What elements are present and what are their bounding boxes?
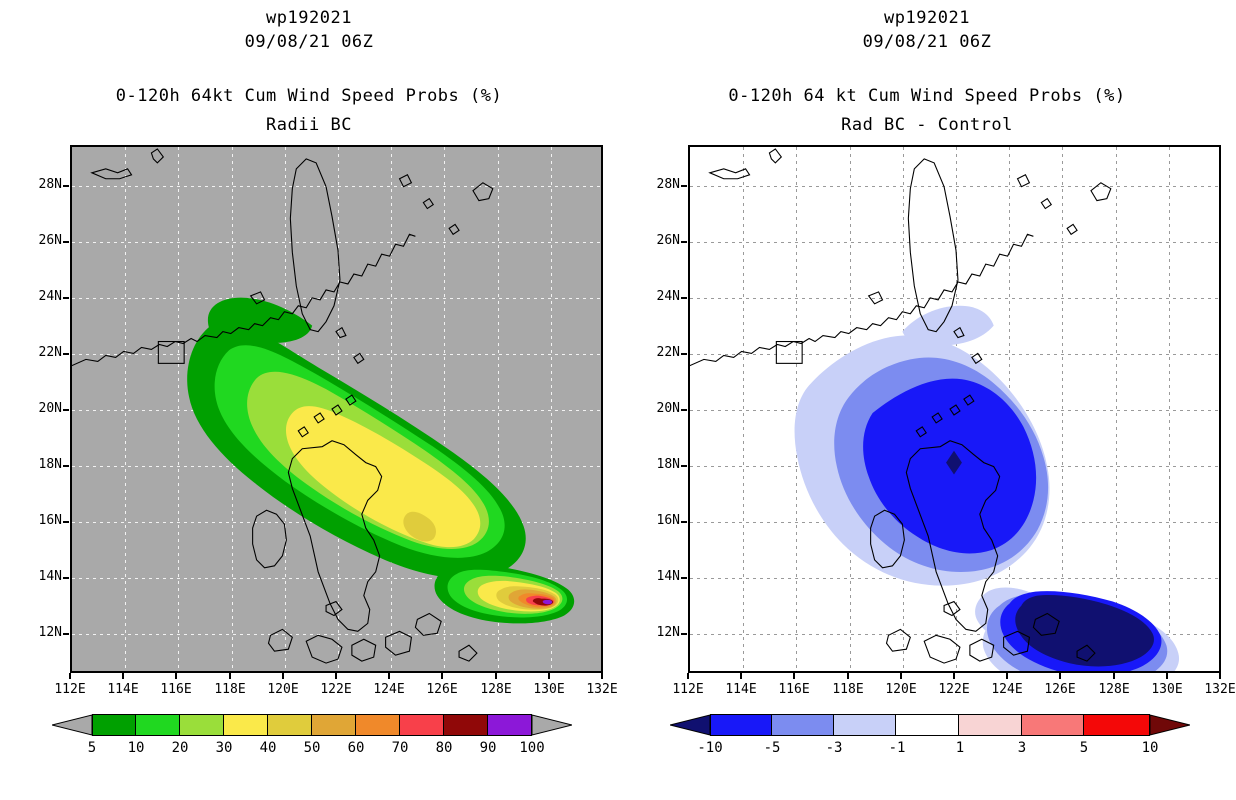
coastline-overlay-left [72, 147, 601, 671]
colorbar-label-10: 10 [113, 740, 159, 756]
x-tick-112e: 112E [47, 682, 93, 697]
y-tick-24n: 24N [20, 289, 62, 304]
colorbar-label-20: 20 [157, 740, 203, 756]
colorbar-label-40: 40 [245, 740, 291, 756]
colorbar-seg-neg1 [896, 714, 959, 736]
y-tick-24n-right: 24N [638, 289, 680, 304]
colorbar-high-cap-right [1150, 714, 1190, 736]
coastline-overlay-right [690, 147, 1219, 671]
datetime-left: 09/08/21 06Z [0, 32, 618, 52]
y-tick-22n: 22N [20, 345, 62, 360]
x-tick-126e-right: 126E [1037, 682, 1083, 697]
map-plot-left[interactable] [70, 145, 603, 673]
colorbar-seg-40 [268, 714, 312, 736]
x-tick-120e-right: 120E [878, 682, 924, 697]
x-tick-114e: 114E [100, 682, 146, 697]
chart-subtitle-right: Rad BC - Control [618, 115, 1236, 135]
x-tick-126e: 126E [419, 682, 465, 697]
colorbar-label-5: 5 [69, 740, 115, 756]
colorbar-label-neg5: -5 [749, 740, 795, 756]
x-tick-116e-right: 116E [771, 682, 817, 697]
colorbar-probability[interactable]: 5 10 20 30 40 50 60 70 80 90 100 [0, 714, 618, 774]
colorbar-label-neg10: -10 [687, 740, 733, 756]
x-tick-118e-right: 118E [825, 682, 871, 697]
colorbar-seg-neg3 [834, 714, 896, 736]
y-tick-26n-right: 26N [638, 233, 680, 248]
colorbar-seg-50 [312, 714, 356, 736]
storm-id-left: wp192021 [0, 8, 618, 28]
colorbar-difference[interactable]: -10 -5 -3 -1 1 3 5 10 [618, 714, 1236, 774]
colorbar-seg-5 [92, 714, 136, 736]
colorbar-seg-70 [400, 714, 444, 736]
colorbar-label-pos5: 5 [1061, 740, 1107, 756]
colorbar-segments-left [92, 714, 532, 736]
datetime-right: 09/08/21 06Z [618, 32, 1236, 52]
colorbar-seg-neg10 [710, 714, 772, 736]
x-tick-130e-right: 130E [1144, 682, 1190, 697]
colorbar-low-cap-left [52, 714, 92, 736]
colorbar-label-60: 60 [333, 740, 379, 756]
colorbar-label-neg1: -1 [874, 740, 920, 756]
y-tick-14n: 14N [20, 569, 62, 584]
chart-subtitle-left: Radii BC [0, 115, 618, 135]
x-tick-130e: 130E [526, 682, 572, 697]
colorbar-label-50: 50 [289, 740, 335, 756]
x-tick-122e-right: 122E [931, 682, 977, 697]
colorbar-label-80: 80 [421, 740, 467, 756]
colorbar-low-cap-right [670, 714, 710, 736]
x-tick-118e: 118E [207, 682, 253, 697]
y-tick-16n-right: 16N [638, 513, 680, 528]
y-tick-26n: 26N [20, 233, 62, 248]
x-tick-128e-right: 128E [1091, 682, 1137, 697]
y-tick-12n: 12N [20, 625, 62, 640]
panel-radii-bc: wp192021 09/08/21 06Z 0-120h 64kt Cum Wi… [0, 0, 618, 800]
colorbar-seg-30 [224, 714, 268, 736]
colorbar-seg-80 [444, 714, 488, 736]
storm-id-right: wp192021 [618, 8, 1236, 28]
colorbar-label-pos3: 3 [999, 740, 1045, 756]
colorbar-label-100: 100 [509, 740, 555, 756]
colorbar-label-pos10: 10 [1127, 740, 1173, 756]
y-tick-18n-right: 18N [638, 457, 680, 472]
x-tick-116e: 116E [153, 682, 199, 697]
x-tick-114e-right: 114E [718, 682, 764, 697]
chart-title-left: 0-120h 64kt Cum Wind Speed Probs (%) [0, 86, 618, 106]
colorbar-high-cap-left [532, 714, 572, 736]
x-tick-112e-right: 112E [665, 682, 711, 697]
map-plot-right[interactable] [688, 145, 1221, 673]
colorbar-seg-20 [180, 714, 224, 736]
colorbar-label-70: 70 [377, 740, 423, 756]
colorbar-label-pos1: 1 [937, 740, 983, 756]
x-tick-128e: 128E [473, 682, 519, 697]
colorbar-seg-pos5 [1084, 714, 1150, 736]
colorbar-seg-pos1 [959, 714, 1022, 736]
x-tick-120e: 120E [260, 682, 306, 697]
y-tick-16n: 16N [20, 513, 62, 528]
x-tick-124e-right: 124E [984, 682, 1030, 697]
colorbar-label-neg3: -3 [811, 740, 857, 756]
chart-title-right: 0-120h 64 kt Cum Wind Speed Probs (%) [618, 86, 1236, 106]
colorbar-seg-90 [488, 714, 532, 736]
y-tick-14n-right: 14N [638, 569, 680, 584]
y-tick-12n-right: 12N [638, 625, 680, 640]
y-tick-22n-right: 22N [638, 345, 680, 360]
colorbar-seg-pos3 [1022, 714, 1084, 736]
panel-rad-bc-minus-control: wp192021 09/08/21 06Z 0-120h 64 kt Cum W… [618, 0, 1236, 800]
colorbar-label-30: 30 [201, 740, 247, 756]
x-tick-122e: 122E [313, 682, 359, 697]
y-tick-20n-right: 20N [638, 401, 680, 416]
colorbar-seg-60 [356, 714, 400, 736]
y-tick-20n: 20N [20, 401, 62, 416]
y-tick-18n: 18N [20, 457, 62, 472]
y-tick-28n-right: 28N [638, 177, 680, 192]
colorbar-seg-10 [136, 714, 180, 736]
x-tick-132e-right: 132E [1197, 682, 1236, 697]
y-tick-28n: 28N [20, 177, 62, 192]
colorbar-segments-right [710, 714, 1150, 736]
x-tick-124e: 124E [366, 682, 412, 697]
colorbar-seg-neg5 [772, 714, 834, 736]
colorbar-label-90: 90 [465, 740, 511, 756]
